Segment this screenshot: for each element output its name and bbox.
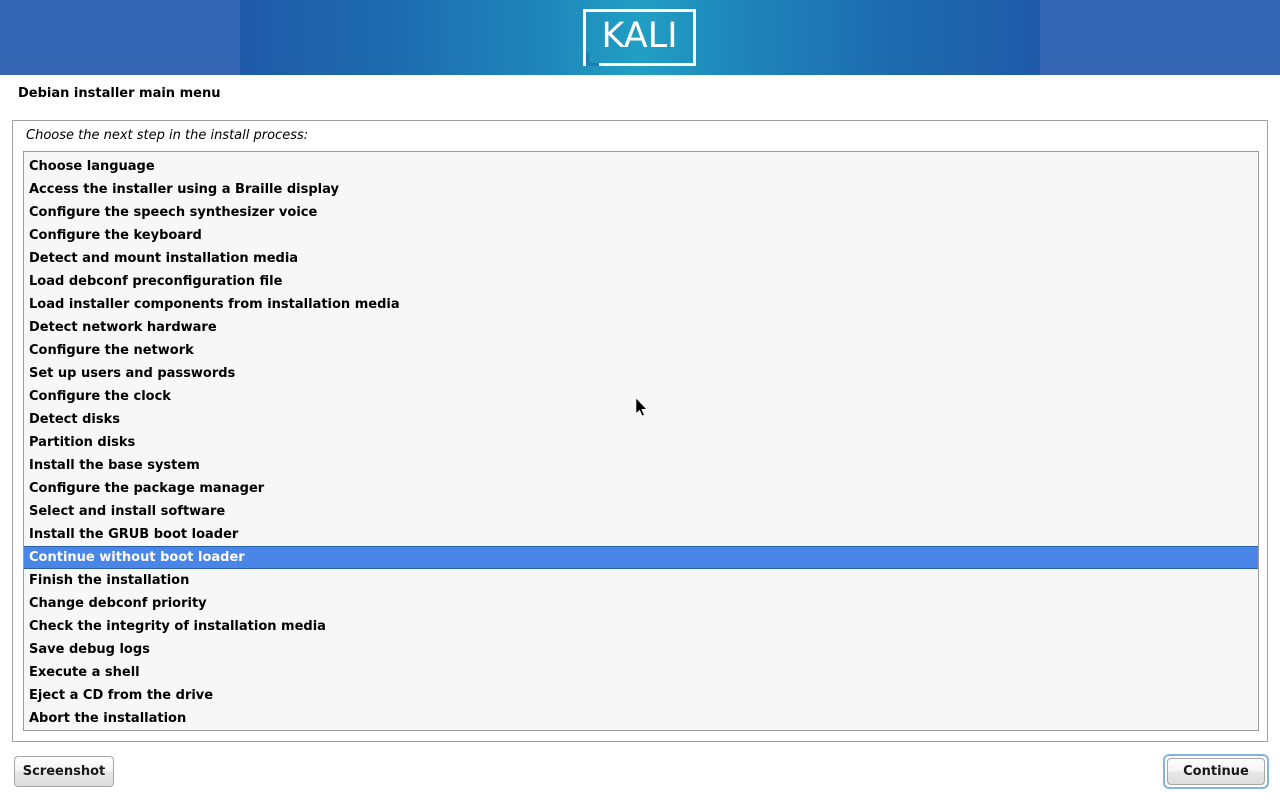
- menu-item[interactable]: Set up users and passwords: [24, 362, 1258, 385]
- panel-prompt: Choose the next step in the install proc…: [26, 128, 308, 143]
- menu-item[interactable]: Partition disks: [24, 431, 1258, 454]
- installer-screen: KALI Debian installer main menu Choose t…: [0, 0, 1280, 800]
- menu-item[interactable]: Access the installer using a Braille dis…: [24, 178, 1258, 201]
- menu-item[interactable]: Detect and mount installation media: [24, 247, 1258, 270]
- menu-item[interactable]: Detect disks: [24, 408, 1258, 431]
- kali-logo-text: KALI: [583, 14, 696, 59]
- menu-item[interactable]: Eject a CD from the drive: [24, 684, 1258, 707]
- menu-item[interactable]: Configure the network: [24, 339, 1258, 362]
- screenshot-button[interactable]: Screenshot: [14, 756, 114, 787]
- menu-item[interactable]: Configure the keyboard: [24, 224, 1258, 247]
- menu-item[interactable]: Check the integrity of installation medi…: [24, 615, 1258, 638]
- menu-item[interactable]: Continue without boot loader: [24, 546, 1258, 569]
- continue-button[interactable]: Continue: [1167, 758, 1265, 785]
- menu-item[interactable]: Execute a shell: [24, 661, 1258, 684]
- menu-item[interactable]: Load debconf preconfiguration file: [24, 270, 1258, 293]
- menu-list[interactable]: Choose languageAccess the installer usin…: [23, 151, 1259, 731]
- main-panel: Choose the next step in the install proc…: [12, 120, 1268, 742]
- menu-item[interactable]: Configure the clock: [24, 385, 1258, 408]
- menu-item[interactable]: Finish the installation: [24, 569, 1258, 592]
- menu-item[interactable]: Choose language: [24, 155, 1258, 178]
- menu-item[interactable]: Install the base system: [24, 454, 1258, 477]
- kali-logo-icon: KALI: [583, 9, 696, 66]
- page-title: Debian installer main menu: [18, 86, 220, 101]
- menu-item[interactable]: Change debconf priority: [24, 592, 1258, 615]
- menu-item[interactable]: Install the GRUB boot loader: [24, 523, 1258, 546]
- menu-item[interactable]: Configure the speech synthesizer voice: [24, 201, 1258, 224]
- menu-item[interactable]: Detect network hardware: [24, 316, 1258, 339]
- kali-banner: KALI: [0, 0, 1280, 75]
- menu-item[interactable]: Abort the installation: [24, 707, 1258, 730]
- menu-item[interactable]: Select and install software: [24, 500, 1258, 523]
- menu-list-inner: Choose languageAccess the installer usin…: [24, 155, 1258, 730]
- continue-button-focus-ring: Continue: [1163, 754, 1269, 789]
- menu-item[interactable]: Load installer components from installat…: [24, 293, 1258, 316]
- menu-item[interactable]: Configure the package manager: [24, 477, 1258, 500]
- menu-item[interactable]: Save debug logs: [24, 638, 1258, 661]
